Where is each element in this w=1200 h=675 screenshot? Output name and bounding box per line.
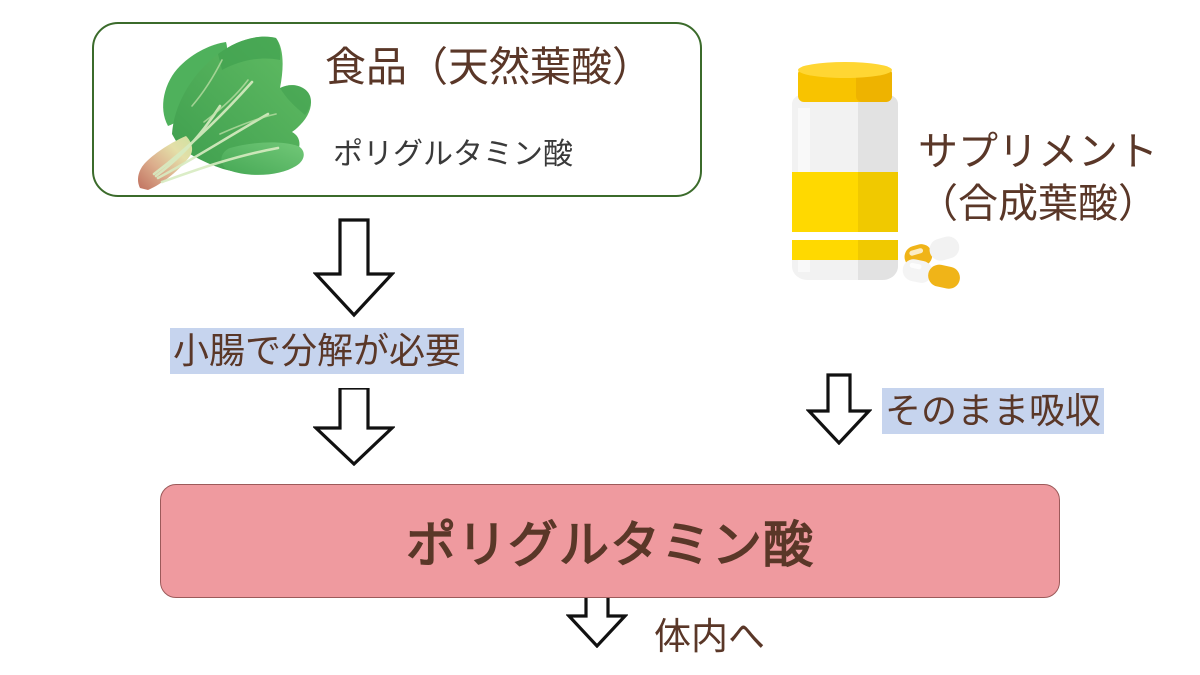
- arrow-digest-to-result-icon: [313, 388, 395, 466]
- spinach-leaf-icon: [134, 30, 330, 200]
- outcome-label: 体内へ: [654, 606, 765, 660]
- capsules-icon: [898, 232, 974, 294]
- food-node-subtitle: ポリグルタミン酸: [333, 138, 663, 173]
- supplement-node-title: サプリメント （合成葉酸）: [918, 126, 1200, 230]
- supplement-path-step-label: そのまま吸収: [882, 388, 1104, 434]
- arrow-food-to-digest-icon: [313, 218, 395, 318]
- result-node-label: ポリグルタミン酸: [160, 484, 1060, 598]
- diagram-canvas: 食品（天然葉酸） ポリグルタミン酸: [0, 0, 1200, 675]
- arrow-supplement-to-result-icon: [806, 373, 872, 445]
- food-path-step-label: 小腸で分解が必要: [170, 328, 464, 374]
- supplement-node-title-line1: サプリメント: [918, 130, 1158, 174]
- food-node-title: 食品（天然葉酸）: [325, 44, 695, 91]
- supplement-node-title-line2: （合成葉酸）: [918, 178, 1200, 230]
